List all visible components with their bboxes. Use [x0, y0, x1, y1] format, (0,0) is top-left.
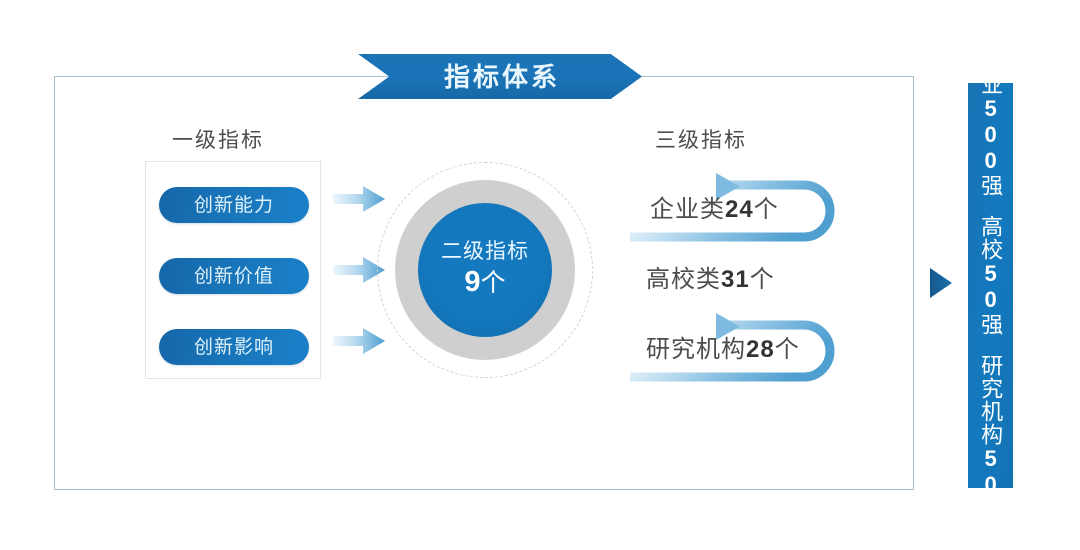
level1-item-2[interactable]: 创新影响: [159, 329, 309, 365]
level3-item-2-name: 研究机构: [646, 336, 746, 363]
outcome-entry-1-line3: 强: [978, 313, 1003, 336]
outcome-entry-0-line3: 强: [978, 174, 1003, 197]
outcome-entry-2: 研究机构50强: [979, 354, 1002, 521]
outcome-entry-0-line1: 企业: [978, 50, 1003, 96]
level1-item-2-label: 创新影响: [194, 338, 274, 357]
page-title: 指标体系: [440, 64, 560, 90]
level2-core-circle: 二级指标 9个: [418, 203, 552, 337]
level3-item-2-unit: 个: [775, 336, 800, 363]
right-arrow-icon: [333, 328, 385, 354]
level2-count-value: 9: [464, 266, 480, 298]
level3-item-0-unit: 个: [754, 196, 779, 223]
title-banner: 指标体系: [358, 54, 642, 99]
level3-item-0[interactable]: 企业类24个: [650, 189, 779, 224]
outcome-entry-2-value: 50: [978, 446, 1003, 498]
level1-item-0-label: 创新能力: [194, 196, 274, 215]
level2-count: 9个: [464, 266, 505, 299]
outcome-bar: 企业500强 高校50强 研究机构50强: [968, 83, 1013, 488]
level2-count-unit: 个: [481, 269, 506, 297]
level1-item-1[interactable]: 创新价值: [159, 258, 309, 294]
level3-item-0-name: 企业类: [650, 196, 725, 223]
outcome-entry-list: 企业500强 高校50强 研究机构50强: [979, 83, 1002, 488]
level3-item-2[interactable]: 研究机构28个: [646, 329, 800, 364]
level3-item-0-count: 24: [725, 196, 754, 223]
level3-item-1-unit: 个: [750, 266, 775, 293]
outcome-entry-0: 企业500强: [979, 50, 1002, 197]
level1-item-1-label: 创新价值: [194, 267, 274, 286]
level3-item-2-count: 28: [746, 336, 775, 363]
outcome-entry-1-line1: 高校: [978, 215, 1003, 261]
diagram-canvas: 指标体系 一级指标 三级指标 创新能力 创新价值 创新影响: [0, 0, 1080, 550]
level2-label: 二级指标: [441, 240, 529, 263]
level3-item-1-count: 31: [721, 266, 750, 293]
level3-item-1[interactable]: 高校类31个: [646, 259, 775, 294]
level1-group-box: 创新能力 创新价值 创新影响: [145, 161, 321, 379]
level3-item-1-name: 高校类: [646, 266, 721, 293]
outcome-entry-0-value: 500: [978, 96, 1003, 174]
level1-column-header: 一级指标: [172, 124, 264, 154]
outcome-entry-1: 高校50强: [979, 215, 1002, 336]
outcome-entry-1-value: 50: [978, 261, 1003, 313]
outcome-entry-2-line3: 强: [978, 498, 1003, 521]
right-arrow-icon: [333, 186, 385, 212]
triangle-right-icon: [930, 268, 952, 298]
outcome-entry-2-line1: 研究机构: [978, 354, 1003, 446]
level1-item-0[interactable]: 创新能力: [159, 187, 309, 223]
level3-column-header: 三级指标: [655, 124, 747, 154]
